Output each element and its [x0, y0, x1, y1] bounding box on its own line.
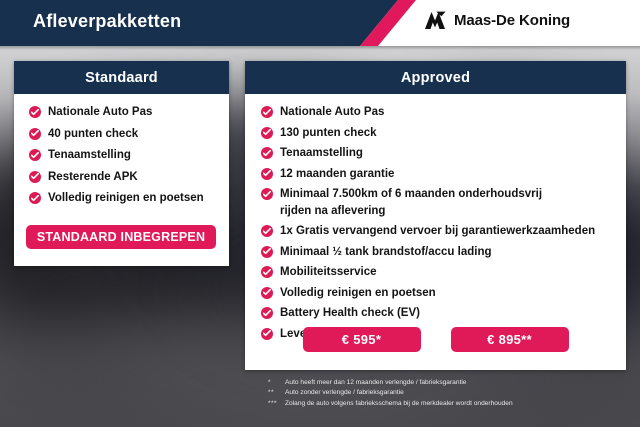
maas-de-koning-mark-icon	[424, 11, 446, 30]
brand-logo: Maas-De Koning	[424, 11, 570, 30]
feature-label: Tenaamstelling	[280, 147, 363, 160]
footnote-text: Zolang de auto volgens fabrieksschema bi…	[285, 399, 513, 409]
check-circle-icon	[261, 127, 273, 139]
check-circle-icon	[261, 106, 273, 118]
list-item: Volledig reinigen en poetsen	[29, 192, 217, 205]
check-circle-icon	[29, 171, 41, 183]
package-card-standaard: Standaard Nationale Auto Pas 40 punten c…	[14, 61, 229, 266]
slide-root: Afleverpakketten Maas-De Koning Standaar…	[0, 0, 640, 427]
price-button-row: € 595* € 895**	[245, 327, 626, 352]
feature-label-line2: rijden na aflevering	[280, 205, 542, 218]
check-circle-icon	[261, 246, 273, 258]
feature-label: Resterende APK	[48, 171, 138, 184]
package-body-standaard: Nationale Auto Pas 40 punten check Tenaa…	[14, 94, 229, 205]
list-item: Nationale Auto Pas	[29, 106, 217, 119]
feature-label: Battery Health check (EV)	[280, 307, 420, 320]
list-item: Mobiliteitsservice	[261, 266, 614, 279]
feature-list-standaard: Nationale Auto Pas 40 punten check Tenaa…	[14, 104, 229, 205]
feature-label: Volledig reinigen en poetsen	[48, 192, 204, 205]
package-card-approved: Approved Nationale Auto Pas 130 punten c…	[245, 61, 626, 370]
check-circle-icon	[29, 192, 41, 204]
package-header-standaard: Standaard	[14, 61, 229, 94]
feature-label: 12 maanden garantie	[280, 168, 394, 181]
check-circle-icon	[261, 266, 273, 278]
feature-label: 40 punten check	[48, 128, 138, 141]
brand-name: Maas-De Koning	[454, 12, 570, 29]
feature-label: Nationale Auto Pas	[280, 106, 384, 119]
list-item: Tenaamstelling	[261, 147, 614, 160]
list-item: Resterende APK	[29, 171, 217, 184]
page-title: Afleverpakketten	[33, 11, 181, 32]
feature-label: Volledig reinigen en poetsen	[280, 287, 436, 300]
footnote-text: Auto zonder verlengde / fabrieksgarantie	[285, 388, 404, 398]
list-item: 130 punten check	[261, 127, 614, 140]
list-item: Minimaal 7.500km of 6 maanden onderhouds…	[261, 188, 614, 218]
standaard-inbegrepen-button[interactable]: STANDAARD INBEGREPEN	[26, 225, 216, 249]
price-button-895[interactable]: € 895**	[451, 327, 569, 352]
footnote-row: *** Zolang de auto volgens fabrieksschem…	[268, 399, 513, 409]
list-item: 40 punten check	[29, 128, 217, 141]
package-header-approved: Approved	[245, 61, 626, 94]
list-item: Tenaamstelling	[29, 149, 217, 162]
check-circle-icon	[261, 307, 273, 319]
feature-label: Tenaamstelling	[48, 149, 131, 162]
footnote-row: * Auto heeft meer dan 12 maanden verleng…	[268, 378, 513, 388]
price-button-595[interactable]: € 595*	[303, 327, 421, 352]
check-circle-icon	[261, 225, 273, 237]
feature-label: Minimaal ½ tank brandstof/accu lading	[280, 246, 492, 259]
footnote-text: Auto heeft meer dan 12 maanden verlengde…	[285, 378, 466, 388]
list-item: Battery Health check (EV)	[261, 307, 614, 320]
footnote-row: ** Auto zonder verlengde / fabrieksgaran…	[268, 388, 513, 398]
check-circle-icon	[261, 287, 273, 299]
check-circle-icon	[29, 128, 41, 140]
list-item: 12 maanden garantie	[261, 168, 614, 181]
check-circle-icon	[29, 106, 41, 118]
check-circle-icon	[261, 188, 273, 200]
footnote-mark: ***	[268, 399, 285, 409]
header-dropshadow	[0, 46, 640, 50]
feature-label: Mobiliteitsservice	[280, 266, 377, 279]
check-circle-icon	[29, 149, 41, 161]
list-item: Nationale Auto Pas	[261, 106, 614, 119]
package-title: Standaard	[85, 70, 158, 86]
page-header: Afleverpakketten Maas-De Koning	[0, 0, 640, 46]
check-circle-icon	[261, 147, 273, 159]
list-item: Minimaal ½ tank brandstof/accu lading	[261, 246, 614, 259]
feature-label: 1x Gratis vervangend vervoer bij garanti…	[280, 225, 595, 238]
list-item: 1x Gratis vervangend vervoer bij garanti…	[261, 225, 614, 238]
feature-label: Nationale Auto Pas	[48, 106, 152, 119]
feature-list-approved: Nationale Auto Pas 130 punten check Tena…	[245, 104, 626, 341]
feature-label: 130 punten check	[280, 127, 377, 140]
package-body-approved: Nationale Auto Pas 130 punten check Tena…	[245, 94, 626, 341]
check-circle-icon	[261, 168, 273, 180]
feature-label-wrapped: Minimaal 7.500km of 6 maanden onderhouds…	[280, 188, 542, 218]
feature-label-line1: Minimaal 7.500km of 6 maanden onderhouds…	[280, 188, 542, 200]
footnote-mark: **	[268, 388, 285, 398]
list-item: Volledig reinigen en poetsen	[261, 287, 614, 300]
package-title: Approved	[401, 70, 470, 86]
footnote-mark: *	[268, 378, 285, 388]
footnotes: * Auto heeft meer dan 12 maanden verleng…	[268, 378, 513, 409]
